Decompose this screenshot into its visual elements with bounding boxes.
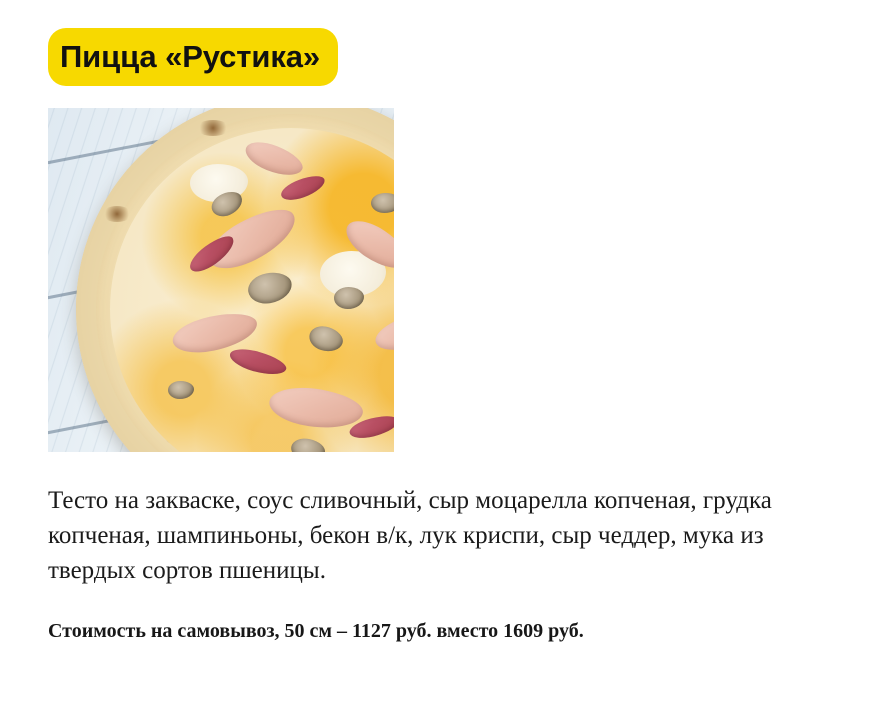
crust-char-spot (196, 120, 230, 136)
mushroom-slice (306, 322, 346, 355)
page-title: Пицца «Рустика» (60, 41, 320, 74)
smoked-chicken-slice (267, 382, 365, 433)
product-title-badge: Пицца «Рустика» (48, 28, 338, 86)
bacon-strip (228, 345, 289, 380)
promo-card: Пицца «Рустика» (0, 0, 872, 705)
mushroom-slice (371, 193, 394, 213)
smoked-chicken-slice (241, 136, 306, 183)
mushroom-slice (289, 436, 327, 452)
mushroom-slice (334, 287, 364, 309)
mushroom-slice (168, 381, 194, 399)
pizza-photo (48, 108, 394, 452)
smoked-chicken-slice (371, 306, 394, 357)
mushroom-slice (245, 269, 294, 306)
price-text: Стоимость на самовывоз, 50 см – 1127 руб… (48, 618, 848, 644)
crust-char-spot (102, 206, 132, 222)
bacon-strip (278, 171, 327, 204)
product-description: Тесто на закваске, соус сливочный, сыр м… (48, 483, 848, 588)
